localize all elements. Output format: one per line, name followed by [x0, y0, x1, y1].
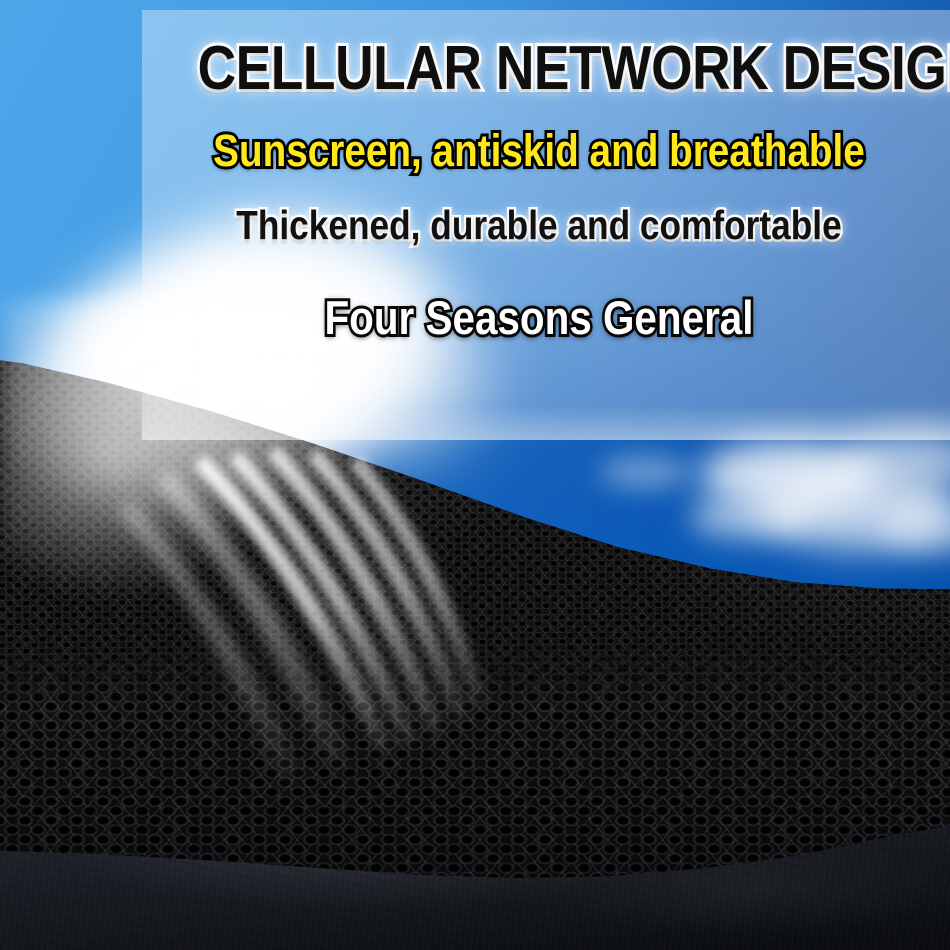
subheadline-3: Four Seasons General	[198, 294, 881, 341]
product-banner: CELLULAR NETWORK DESIGN Sunscreen, antis…	[0, 0, 950, 950]
marketing-copy: CELLULAR NETWORK DESIGN Sunscreen, antis…	[142, 10, 950, 341]
subheadline-1: Sunscreen, antiskid and breathable	[198, 128, 881, 173]
headline: CELLULAR NETWORK DESIGN	[198, 38, 881, 100]
subheadline-2: Thickened, durable and comfortable	[198, 205, 881, 246]
sky-deep-wash	[0, 300, 950, 640]
